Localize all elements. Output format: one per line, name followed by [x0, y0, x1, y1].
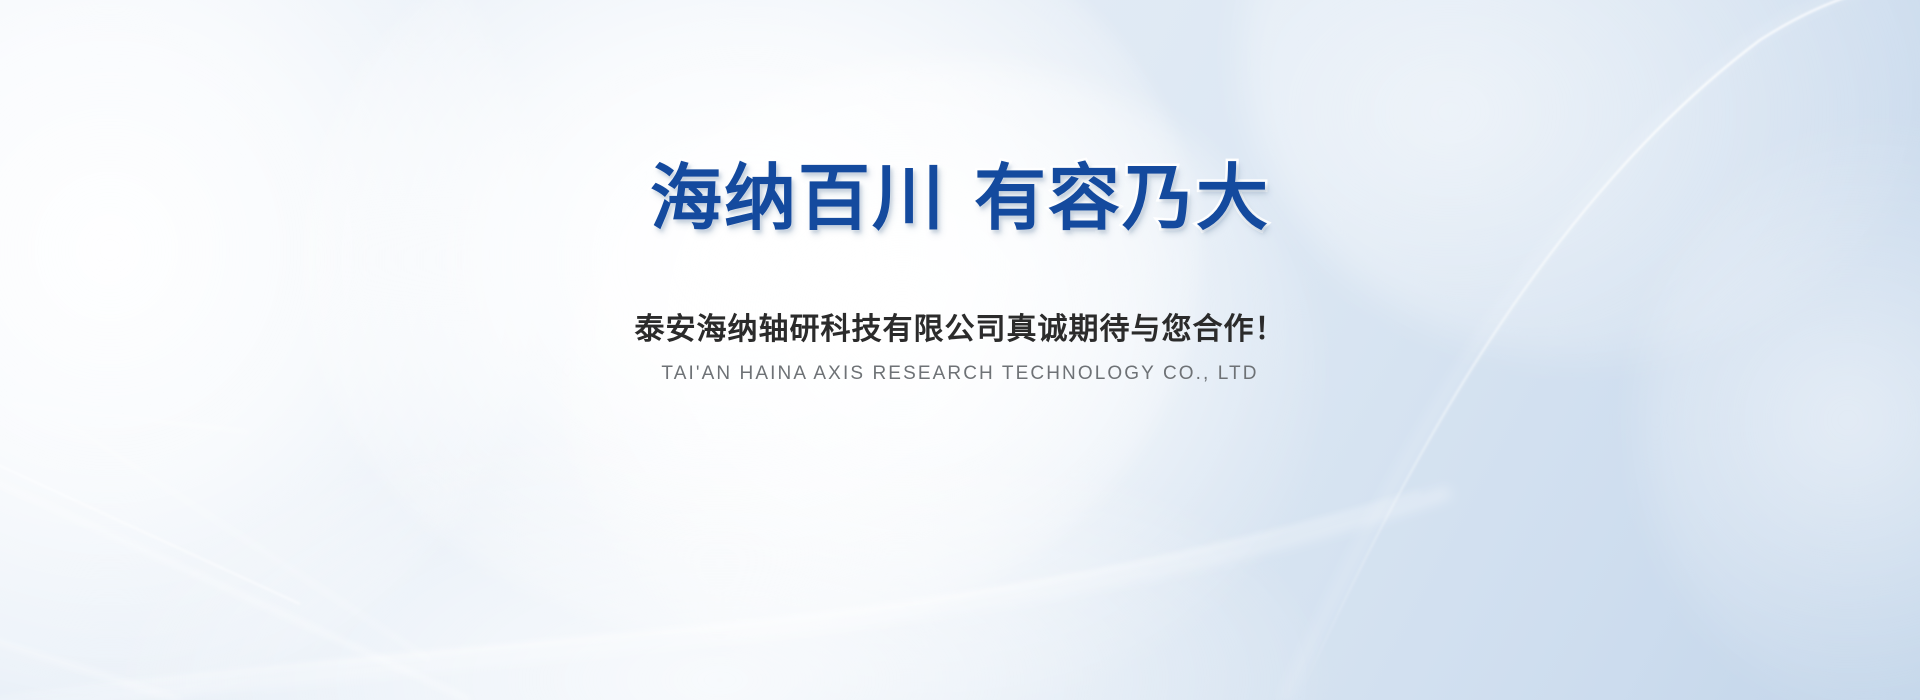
diagonal-light-streak [60, 418, 430, 660]
center-light-glow [1640, 120, 1920, 700]
banner-content: 海纳百川有容乃大 泰安海纳轴研科技有限公司真诚期待与您合作！ TAI'AN HA… [0, 0, 1920, 700]
background-decoration [0, 0, 1920, 700]
diagonal-light-streak [0, 636, 180, 700]
headline-part-2: 有容乃大 [974, 159, 1270, 239]
diagonal-light-streak [10, 404, 250, 432]
headline-part-1: 海纳百川 [650, 159, 946, 239]
subtitle-english: TAI'AN HAINA AXIS RESEARCH TECHNOLOGY CO… [0, 362, 1920, 387]
center-light-glow [1240, 0, 1920, 360]
page-title: 海纳百川有容乃大 [0, 163, 1920, 235]
center-light-glow [120, 420, 1320, 700]
center-light-glow [0, 0, 540, 700]
center-light-glow [300, 0, 1200, 640]
arc-curve-decoration [1298, 0, 1920, 700]
arc-curve-decoration [1284, 0, 1920, 700]
diagonal-light-streak [0, 452, 300, 604]
sweep-curve-decoration [0, 492, 1420, 700]
diagonal-light-streak [0, 470, 470, 700]
center-light-glow [560, 60, 1320, 700]
subtitle-chinese: 泰安海纳轴研科技有限公司真诚期待与您合作！ [0, 310, 1920, 349]
sweep-curve-decoration [0, 492, 1450, 700]
hero-banner: 海纳百川有容乃大 泰安海纳轴研科技有限公司真诚期待与您合作！ TAI'AN HA… [0, 0, 1920, 700]
